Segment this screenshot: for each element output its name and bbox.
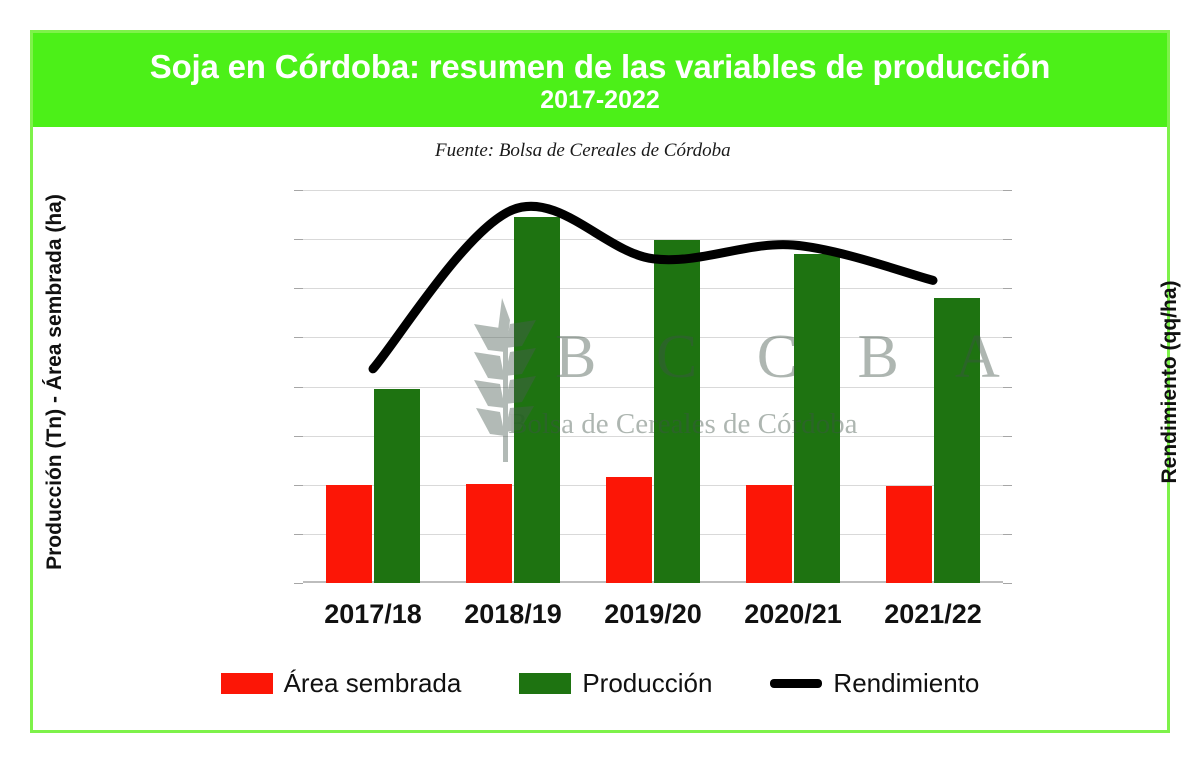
plot-area: -2.000.0004.000.0006.000.0008.000.00010.… — [303, 190, 1003, 583]
bar-produccion[interactable] — [934, 298, 980, 583]
bar-produccion[interactable] — [374, 389, 420, 583]
gridline — [303, 288, 1003, 289]
bar-produccion[interactable] — [794, 254, 840, 583]
x-axis-tick-label: 2019/20 — [604, 599, 702, 630]
chart-title-line2: 2017-2022 — [540, 86, 660, 115]
legend-swatch-area-sembrada — [221, 673, 273, 694]
y-axis-left-tickmark — [294, 436, 303, 437]
x-axis-tick-label: 2018/19 — [464, 599, 562, 630]
x-axis-tick-label: 2017/18 — [324, 599, 422, 630]
chart-title-banner: Soja en Córdoba: resumen de las variable… — [33, 33, 1167, 127]
y-axis-right-tickmark — [1003, 239, 1012, 240]
source-note: Fuente: Bolsa de Cereales de Córdoba — [435, 140, 731, 162]
chart-legend: Área sembrada Producción Rendimiento — [0, 668, 1200, 699]
legend-swatch-produccion — [519, 673, 571, 694]
bar-produccion[interactable] — [654, 240, 700, 583]
y-axis-right-tickmark — [1003, 190, 1012, 191]
y-axis-right-tickmark — [1003, 337, 1012, 338]
y-axis-right-tickmark — [1003, 583, 1012, 584]
y-axis-right-tickmark — [1003, 485, 1012, 486]
bar-area-sembrada[interactable] — [746, 485, 792, 583]
y-axis-left-title: Producción (Tn) - Área sembrada (ha) — [43, 162, 67, 602]
y-axis-right-tickmark — [1003, 436, 1012, 437]
y-axis-left-tickmark — [294, 190, 303, 191]
legend-swatch-rendimiento — [770, 679, 822, 688]
legend-label-produccion: Producción — [582, 668, 712, 699]
y-axis-right-title: Rendimiento (qq/ha) — [1158, 162, 1182, 602]
legend-label-rendimiento: Rendimiento — [833, 668, 979, 699]
x-axis-tick-label: 2020/21 — [744, 599, 842, 630]
gridline — [303, 337, 1003, 338]
gridline — [303, 190, 1003, 191]
x-axis-tick-label: 2021/22 — [884, 599, 982, 630]
gridline — [303, 387, 1003, 388]
legend-item-produccion[interactable]: Producción — [519, 668, 712, 699]
y-axis-right-tickmark — [1003, 387, 1012, 388]
y-axis-left-tickmark — [294, 239, 303, 240]
chart-title-line1: Soja en Córdoba: resumen de las variable… — [150, 48, 1050, 86]
y-axis-left-tickmark — [294, 387, 303, 388]
y-axis-left-tickmark — [294, 337, 303, 338]
y-axis-left-tickmark — [294, 485, 303, 486]
y-axis-left-tickmark — [294, 583, 303, 584]
y-axis-right-tickmark — [1003, 288, 1012, 289]
gridline — [303, 239, 1003, 240]
legend-label-area-sembrada: Área sembrada — [284, 668, 462, 699]
bar-area-sembrada[interactable] — [326, 485, 372, 583]
bar-area-sembrada[interactable] — [886, 486, 932, 583]
y-axis-left-tickmark — [294, 288, 303, 289]
y-axis-right-tickmark — [1003, 534, 1012, 535]
bar-produccion[interactable] — [514, 217, 560, 583]
bar-area-sembrada[interactable] — [606, 477, 652, 583]
legend-item-rendimiento[interactable]: Rendimiento — [770, 668, 979, 699]
y-axis-left-tickmark — [294, 534, 303, 535]
bar-area-sembrada[interactable] — [466, 484, 512, 583]
legend-item-area-sembrada[interactable]: Área sembrada — [221, 668, 462, 699]
chart-page: Soja en Córdoba: resumen de las variable… — [0, 0, 1200, 757]
